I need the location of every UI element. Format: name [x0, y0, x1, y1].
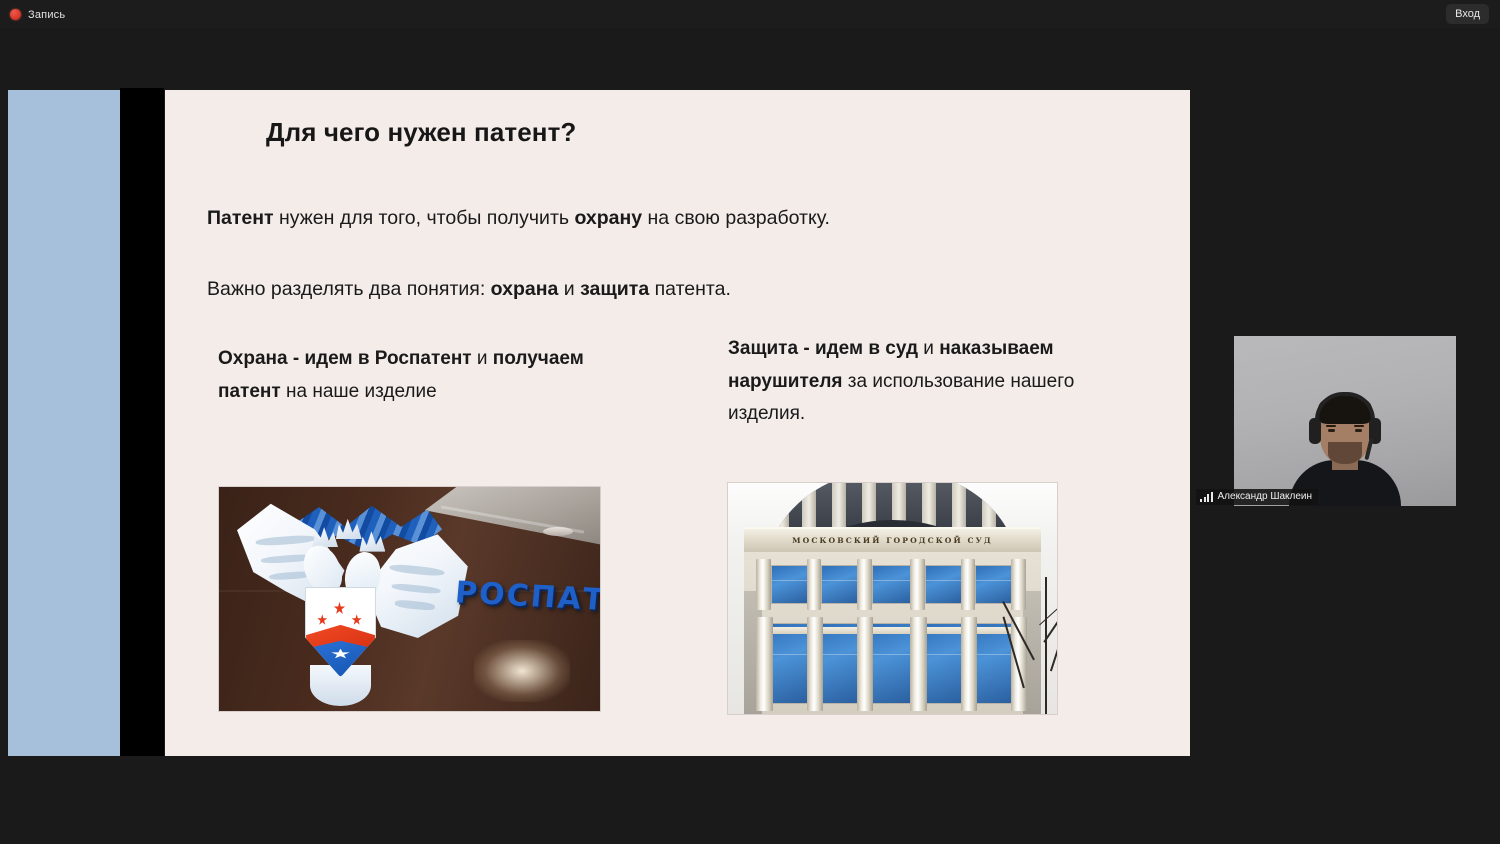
record-dot-icon — [10, 9, 21, 20]
login-button[interactable]: Вход — [1446, 4, 1489, 24]
top-bar: Запись Вход — [0, 0, 1500, 28]
slide-paragraph-1: Патент нужен для того, чтобы получить ох… — [207, 206, 830, 231]
column-left-bold-1: Охрана - идем в Роспатент — [218, 348, 472, 369]
moscow-city-court-photo: МОСКОВСКИЙ ГОРОДСКОЙ СУД — [727, 482, 1058, 715]
paragraph-2-tail: патента. — [649, 278, 731, 300]
column-right-bold-1: Защита - идем в суд — [728, 338, 918, 359]
slide-title: Для чего нужен патент? — [266, 117, 576, 148]
paragraph-1-bold-2: охрану — [574, 207, 642, 229]
presentation-slide: Для чего нужен патент? Патент нужен для … — [165, 90, 1190, 756]
column-defense-text: Защита - идем в суд и наказываем нарушит… — [728, 333, 1098, 431]
paragraph-2-bold-1: охрана — [491, 278, 559, 300]
column-left-tail: на наше изделие — [281, 381, 437, 402]
participant-video-tile[interactable] — [1234, 336, 1456, 506]
emblem-shield — [305, 587, 376, 678]
paragraph-1-mid: нужен для того, чтобы получить — [274, 207, 575, 229]
recording-label: Запись — [28, 9, 65, 21]
headphone-cup-left — [1309, 418, 1321, 444]
paragraph-2-lead: Важно разделять два понятия: — [207, 278, 491, 300]
slide-side-accent-strip — [8, 90, 120, 756]
participant-brow-left — [1326, 425, 1336, 427]
participant-name-label: Александр Шаклеин — [1218, 491, 1313, 502]
participant-name-tag: Александр Шаклеин — [1196, 489, 1318, 505]
paragraph-2-mid: и — [558, 278, 580, 300]
rospatent-logo-photo: РОСПАТЕНТ — [218, 486, 601, 712]
slide-side-black-strip — [120, 88, 164, 756]
signal-bars-icon — [1200, 492, 1213, 502]
slide-paragraph-2: Важно разделять два понятия: охрана и за… — [207, 277, 731, 302]
paragraph-2-bold-2: защита — [580, 278, 649, 300]
column-left-mid: и — [472, 348, 493, 369]
participant-eye-right — [1355, 429, 1362, 432]
rospatent-wall-glow — [474, 640, 570, 702]
paragraph-1-tail: на свою разработку. — [642, 207, 830, 229]
court-bare-tree — [975, 571, 1058, 714]
double-headed-eagle-emblem — [234, 496, 470, 702]
column-right-mid: и — [918, 338, 939, 359]
recording-indicator: Запись — [10, 6, 65, 23]
court-entablature: МОСКОВСКИЙ ГОРОДСКОЙ СУД — [744, 527, 1040, 552]
paragraph-1-bold-1: Патент — [207, 207, 274, 229]
participant-eye-left — [1328, 429, 1335, 432]
column-protection-text: Охрана - идем в Роспатент и получаем пат… — [218, 343, 588, 408]
court-building-caption: МОСКОВСКИЙ ГОРОДСКОЙ СУД — [792, 536, 993, 545]
meeting-screenshare-app: Запись Вход Для чего нужен патент? Патен… — [0, 0, 1500, 844]
participant-beard — [1328, 442, 1362, 464]
participant-brow-right — [1354, 425, 1364, 427]
